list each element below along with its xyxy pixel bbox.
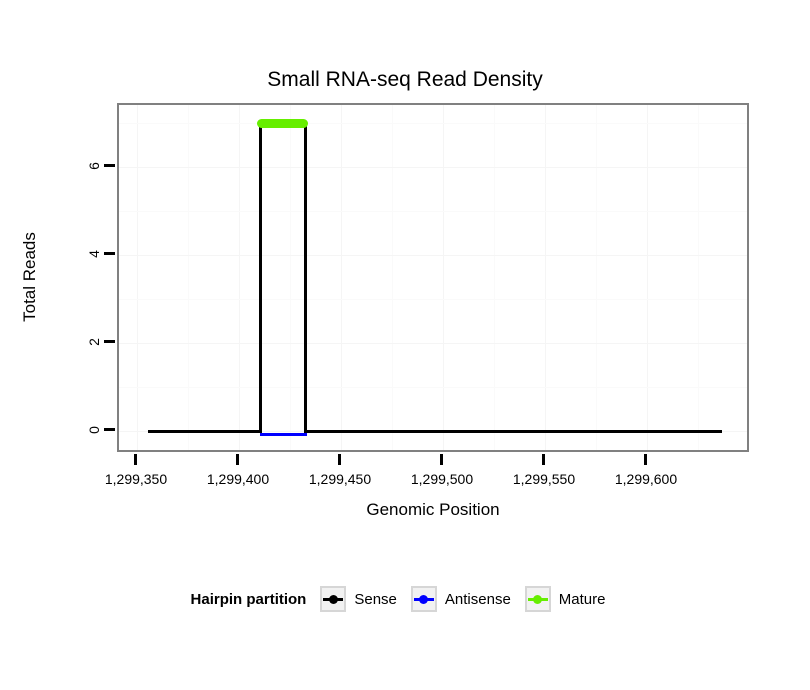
series-antisense (260, 433, 307, 436)
y-tick (104, 252, 115, 255)
gridline-x-major (137, 105, 138, 450)
series-sense-baseline-right (304, 430, 722, 433)
gridline-x-minor (392, 105, 393, 450)
legend-item-sense[interactable]: Sense (320, 586, 397, 612)
x-tick (134, 454, 137, 465)
x-tick (338, 454, 341, 465)
x-tick (542, 454, 545, 465)
gridline-y-minor (119, 299, 747, 300)
x-tick-label: 1,299,550 (513, 471, 575, 487)
series-mature (257, 119, 308, 128)
gridline-y-major (119, 343, 747, 344)
legend-item-label: Sense (354, 591, 397, 608)
x-tick-label: 1,299,400 (207, 471, 269, 487)
x-tick (644, 454, 647, 465)
gridline-y-major (119, 167, 747, 168)
legend-item-mature[interactable]: Mature (525, 586, 606, 612)
gridline-y-minor (119, 211, 747, 212)
series-sense-riser-left (259, 124, 262, 433)
gridline-y-minor (119, 387, 747, 388)
y-tick-label: 0 (86, 420, 102, 440)
gridline-y-major (119, 255, 747, 256)
y-tick-label: 4 (86, 244, 102, 264)
gridline-x-major (647, 105, 648, 450)
gridline-x-minor (494, 105, 495, 450)
legend-item-label: Mature (559, 591, 606, 608)
x-tick-label: 1,299,500 (411, 471, 473, 487)
series-sense-riser-right (304, 124, 307, 433)
y-tick-label: 6 (86, 156, 102, 176)
legend-title: Hairpin partition (191, 591, 307, 608)
gridline-x-major (545, 105, 546, 450)
y-tick-label: 2 (86, 332, 102, 352)
x-tick-label: 1,299,450 (309, 471, 371, 487)
x-tick-label: 1,299,600 (615, 471, 677, 487)
gridline-x-minor (596, 105, 597, 450)
gridline-x-minor (188, 105, 189, 450)
line-point-key-icon (525, 586, 551, 612)
x-axis-title: Genomic Position (117, 500, 749, 520)
x-tick-label: 1,299,350 (105, 471, 167, 487)
panel-background (119, 105, 747, 450)
gridline-x-major (239, 105, 240, 450)
gridline-x-minor (698, 105, 699, 450)
gridline-x-major (443, 105, 444, 450)
y-tick (104, 428, 115, 431)
legend-item-label: Antisense (445, 591, 511, 608)
line-point-key-icon (320, 586, 346, 612)
plot-panel (117, 103, 749, 452)
legend: Hairpin partition Sense Antisense Mature (0, 586, 810, 612)
x-tick (440, 454, 443, 465)
gridline-x-major (341, 105, 342, 450)
series-sense-baseline-left (148, 430, 261, 433)
page-title: Small RNA-seq Read Density (0, 68, 810, 92)
y-tick (104, 340, 115, 343)
legend-item-antisense[interactable]: Antisense (411, 586, 511, 612)
y-tick (104, 164, 115, 167)
y-axis-title: Total Reads (20, 232, 40, 322)
chart-figure: Small RNA-seq Read Density (0, 0, 810, 690)
gridline-y-minor (119, 123, 747, 124)
x-tick (236, 454, 239, 465)
line-point-key-icon (411, 586, 437, 612)
gridline-x-minor (290, 105, 291, 450)
